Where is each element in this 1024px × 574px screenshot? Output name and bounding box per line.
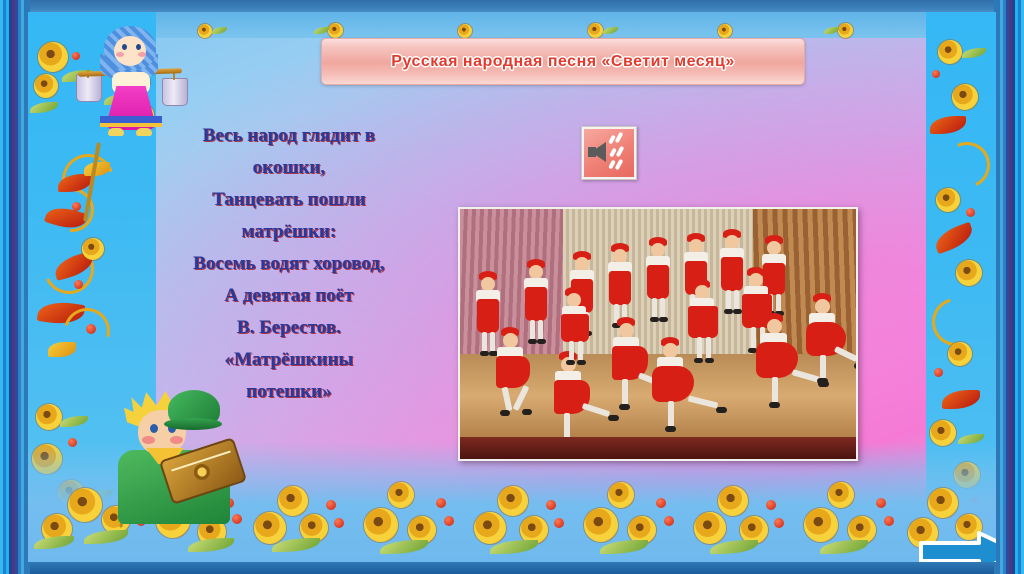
arrow-right-icon (917, 530, 996, 562)
slide-canvas: Русская народная песня «Светит месяц» Ве… (28, 12, 996, 562)
stage-curtain-left (460, 209, 579, 364)
slide-frame-left (0, 0, 30, 574)
poem-line: Весь народ глядит в (160, 120, 418, 152)
presentation-slide: Русская народная песня «Светит месяц» Ве… (0, 0, 1024, 574)
poem-text-block: Весь народ глядит в окошки, Танцевать по… (160, 120, 418, 408)
poem-line: В. Берестов. (160, 312, 418, 344)
slide-title-banner: Русская народная песня «Светит месяц» (321, 38, 805, 85)
poem-line: Восемь водят хоровод, (160, 248, 418, 280)
audio-play-button[interactable] (581, 126, 637, 180)
poem-line: матрёшки: (160, 216, 418, 248)
poem-line: потешки» (160, 376, 418, 408)
page-title: Русская народная песня «Светит месяц» (391, 53, 734, 71)
stage-edge-trim (460, 437, 856, 460)
poem-line: «Матрёшкины (160, 344, 418, 376)
poem-line: Танцевать пошли (160, 184, 418, 216)
slide-frame-bottom (0, 562, 1024, 574)
poem-line: А девятая поёт (160, 280, 418, 312)
poem-line: окошки, (160, 152, 418, 184)
next-slide-button[interactable] (917, 530, 996, 562)
slide-frame-right (994, 0, 1024, 574)
speaker-icon (584, 129, 634, 177)
folk-dance-photo (458, 207, 858, 461)
